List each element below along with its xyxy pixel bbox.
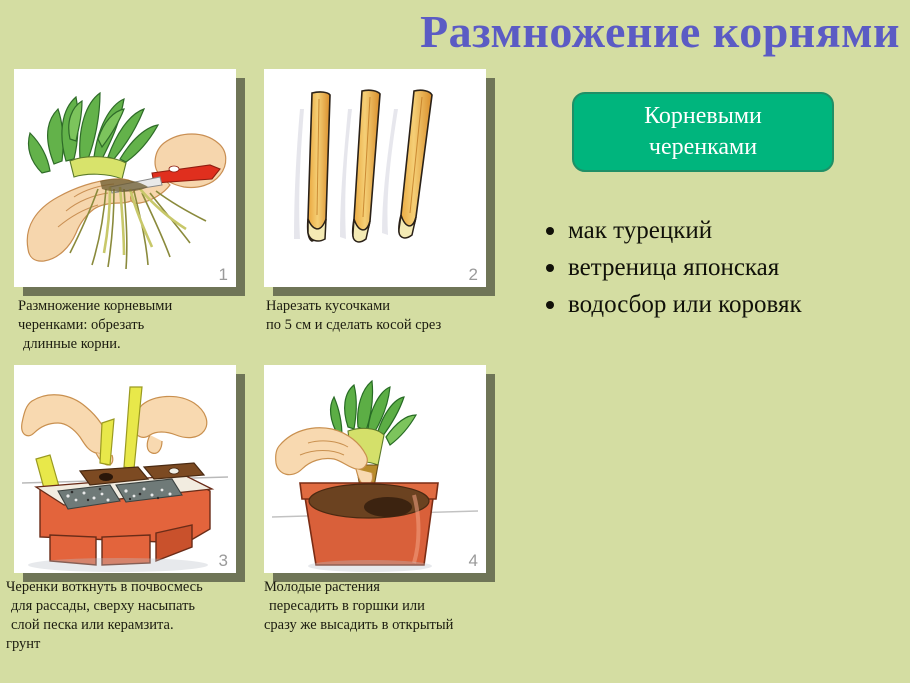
figure-1-frame: 1 — [14, 69, 236, 287]
plant-list: мак турецкий ветреница японская водосбор… — [538, 214, 908, 325]
figure-3: 3 — [14, 365, 236, 573]
illustration-root-cuttings — [264, 69, 486, 287]
slide-root: Размножение корнями — [0, 0, 910, 683]
figure-2-frame: 2 — [264, 69, 486, 287]
caption-line: Молодые растения — [264, 578, 512, 597]
illustration-potting-plant — [264, 365, 486, 573]
figure-2-caption: Нарезать кусочками по 5 см и сделать кос… — [266, 297, 506, 335]
caption-line: черенками: обрезать — [18, 316, 253, 335]
caption-line: Нарезать кусочками — [266, 297, 506, 316]
callout-line-1: Корневыми — [644, 101, 762, 132]
figure-4-frame: 4 — [264, 365, 486, 573]
figure-1: 1 — [14, 69, 236, 287]
figure-3-frame: 3 — [14, 365, 236, 573]
figure-2: 2 — [264, 69, 486, 287]
caption-line: сразу же высадить в открытый — [264, 616, 512, 635]
caption-line: грунт — [6, 635, 264, 654]
figure-2-number: 2 — [469, 265, 478, 285]
caption-line: длинные корни. — [18, 335, 253, 354]
caption-line: пересадить в горшки или — [264, 597, 512, 616]
caption-line: Черенки воткнуть в почвосмесь — [6, 578, 264, 597]
list-item: мак турецкий — [538, 214, 908, 248]
figure-4: 4 — [264, 365, 486, 573]
caption-line: Размножение корневыми — [18, 297, 253, 316]
figure-4-number: 4 — [469, 551, 478, 571]
list-item: ветреница японская — [538, 251, 908, 285]
figure-4-caption: Молодые растения пересадить в горшки или… — [264, 578, 512, 635]
illustration-cutting-roots — [14, 69, 236, 287]
list-item: водосбор или коровяк — [538, 288, 908, 322]
caption-line: по 5 см и сделать косой срез — [266, 316, 506, 335]
caption-line: для рассады, сверху насыпать — [6, 597, 264, 616]
figure-1-caption: Размножение корневыми черенками: обрезат… — [18, 297, 253, 354]
callout-line-2: черенками — [649, 132, 757, 163]
figure-1-number: 1 — [219, 265, 228, 285]
caption-line: слой песка или керамзита. — [6, 616, 264, 635]
page-title: Размножение корнями — [300, 8, 900, 56]
illustration-planting-trays — [14, 365, 236, 573]
figure-3-caption: Черенки воткнуть в почвосмесь для рассад… — [6, 578, 264, 655]
figure-3-number: 3 — [219, 551, 228, 571]
callout-box: Корневыми черенками — [572, 92, 834, 172]
